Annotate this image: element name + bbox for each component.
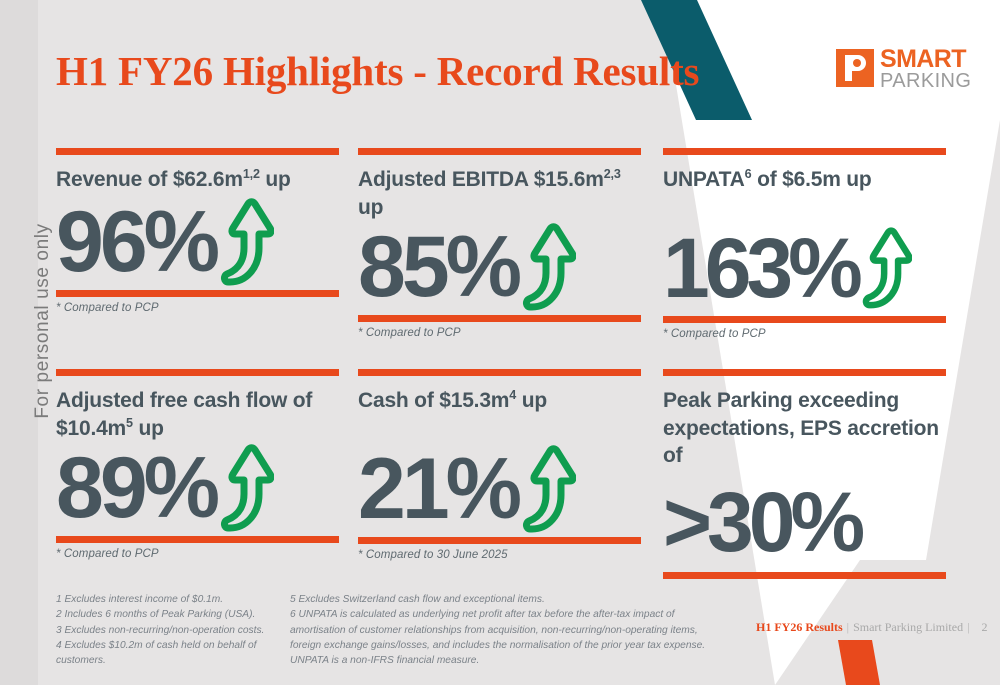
footnote-item: 1 Excludes interest income of $0.1m.	[56, 592, 306, 607]
personal-use-notice: For personal use only	[32, 181, 54, 461]
stat-card-cash: Cash of $15.3m4 up 21% * Compared to 30 …	[358, 369, 641, 561]
card-label-prefix: Peak Parking exceeding expectations, EPS…	[663, 389, 939, 467]
card-bottom-rule	[663, 572, 946, 579]
card-figure-row: >30%	[663, 474, 946, 570]
card-top-rule	[56, 148, 339, 155]
card-label-superscript: 1,2	[243, 167, 260, 181]
card-top-rule	[663, 369, 946, 376]
card-bottom-rule	[56, 290, 339, 297]
slide-footer: H1 FY26 Results|Smart Parking Limited|2	[756, 620, 987, 635]
card-label-suffix: up	[133, 417, 164, 440]
stat-card-adjusted-free-cash-flow: Adjusted free cash flow of $10.4m5 up 89…	[56, 369, 339, 560]
card-bottom-rule	[663, 316, 946, 323]
card-label: Cash of $15.3m4 up	[358, 387, 641, 415]
card-label: Adjusted free cash flow of $10.4m5 up	[56, 387, 339, 442]
card-label-suffix: of $6.5m up	[751, 168, 871, 191]
footnote-item: 4 Excludes $10.2m of cash held on behalf…	[56, 638, 306, 669]
card-label-suffix: up	[516, 389, 547, 412]
card-label: UNPATA6 of $6.5m up	[663, 166, 946, 194]
slide-canvas: For personal use only H1 FY26 Highlights…	[0, 0, 1000, 685]
stat-card-revenue: Revenue of $62.6m1,2 up 96% * Compared t…	[56, 148, 339, 314]
card-figure: 21%	[358, 446, 518, 532]
card-figure: 85%	[358, 224, 518, 310]
card-bottom-rule	[358, 537, 641, 544]
up-arrow-icon	[860, 222, 912, 314]
card-footnote: * Compared to 30 June 2025	[358, 549, 641, 561]
footer-separator: |	[843, 620, 853, 634]
card-footnote: * Compared to PCP	[663, 328, 946, 340]
footer-page-number: 2	[973, 620, 987, 634]
card-figure: >30%	[663, 480, 860, 564]
card-figure: 163%	[663, 226, 858, 310]
card-figure-row: 21%	[358, 441, 641, 537]
card-figure-row: 163%	[663, 220, 946, 316]
card-label-prefix: Cash of $15.3m	[358, 389, 509, 412]
footer-organisation: Smart Parking Limited	[853, 620, 963, 634]
footnotes-left-column: 1 Excludes interest income of $0.1m. 2 I…	[56, 592, 306, 668]
card-label-prefix: Adjusted EBITDA $15.6m	[358, 168, 604, 191]
footer-deck-title: H1 FY26 Results	[756, 620, 843, 634]
brand-logo: SMART PARKING	[836, 48, 971, 90]
card-label: Peak Parking exceeding expectations, EPS…	[663, 387, 946, 470]
parking-p-icon	[836, 49, 874, 87]
card-bottom-rule	[56, 536, 339, 543]
card-figure-row: 85%	[358, 219, 641, 315]
footnote-item: 6 UNPATA is calculated as underlying net…	[290, 607, 730, 668]
card-top-rule	[358, 148, 641, 155]
footnote-item: 5 Excludes Switzerland cash flow and exc…	[290, 592, 730, 607]
logo-word-parking: PARKING	[880, 72, 971, 91]
card-top-rule	[358, 369, 641, 376]
stat-card-unpata: UNPATA6 of $6.5m up 163% * Compared to P…	[663, 148, 946, 340]
card-figure-row: 96%	[56, 194, 339, 290]
up-arrow-icon	[218, 440, 274, 536]
card-label: Revenue of $62.6m1,2 up	[56, 166, 339, 194]
card-label-prefix: Revenue of $62.6m	[56, 168, 243, 191]
card-footnote: * Compared to PCP	[56, 302, 339, 314]
footer-separator-2: |	[963, 620, 973, 634]
card-bottom-rule	[358, 315, 641, 322]
footnotes-right-column: 5 Excludes Switzerland cash flow and exc…	[290, 592, 730, 668]
stat-card-adjusted-ebitda: Adjusted EBITDA $15.6m2,3 up 85% * Compa…	[358, 148, 641, 339]
footnote-item: 2 Includes 6 months of Peak Parking (USA…	[56, 607, 306, 622]
card-figure: 89%	[56, 445, 216, 531]
card-label: Adjusted EBITDA $15.6m2,3 up	[358, 166, 641, 221]
up-arrow-icon	[520, 219, 576, 315]
footnote-item: 3 Excludes non-recurring/non-operation c…	[56, 623, 306, 638]
up-arrow-icon	[218, 194, 274, 290]
card-top-rule	[56, 369, 339, 376]
card-label-prefix: Adjusted free cash flow of $10.4m	[56, 389, 312, 440]
logo-wordmark: SMART PARKING	[880, 48, 971, 90]
card-label-superscript: 2,3	[604, 167, 621, 181]
up-arrow-icon	[520, 441, 576, 537]
card-footnote: * Compared to PCP	[358, 327, 641, 339]
card-figure-row: 89%	[56, 440, 339, 536]
card-label-prefix: UNPATA	[663, 168, 745, 191]
page-title: H1 FY26 Highlights - Record Results	[56, 47, 699, 95]
card-figure: 96%	[56, 199, 216, 285]
card-footnote: * Compared to PCP	[56, 548, 339, 560]
stat-card-peak-parking: Peak Parking exceeding expectations, EPS…	[663, 369, 946, 584]
logo-word-smart: SMART	[880, 48, 971, 72]
card-label-suffix: up	[358, 196, 383, 219]
card-top-rule	[663, 148, 946, 155]
card-label-suffix: up	[260, 168, 291, 191]
card-label-superscript: 5	[126, 416, 133, 430]
